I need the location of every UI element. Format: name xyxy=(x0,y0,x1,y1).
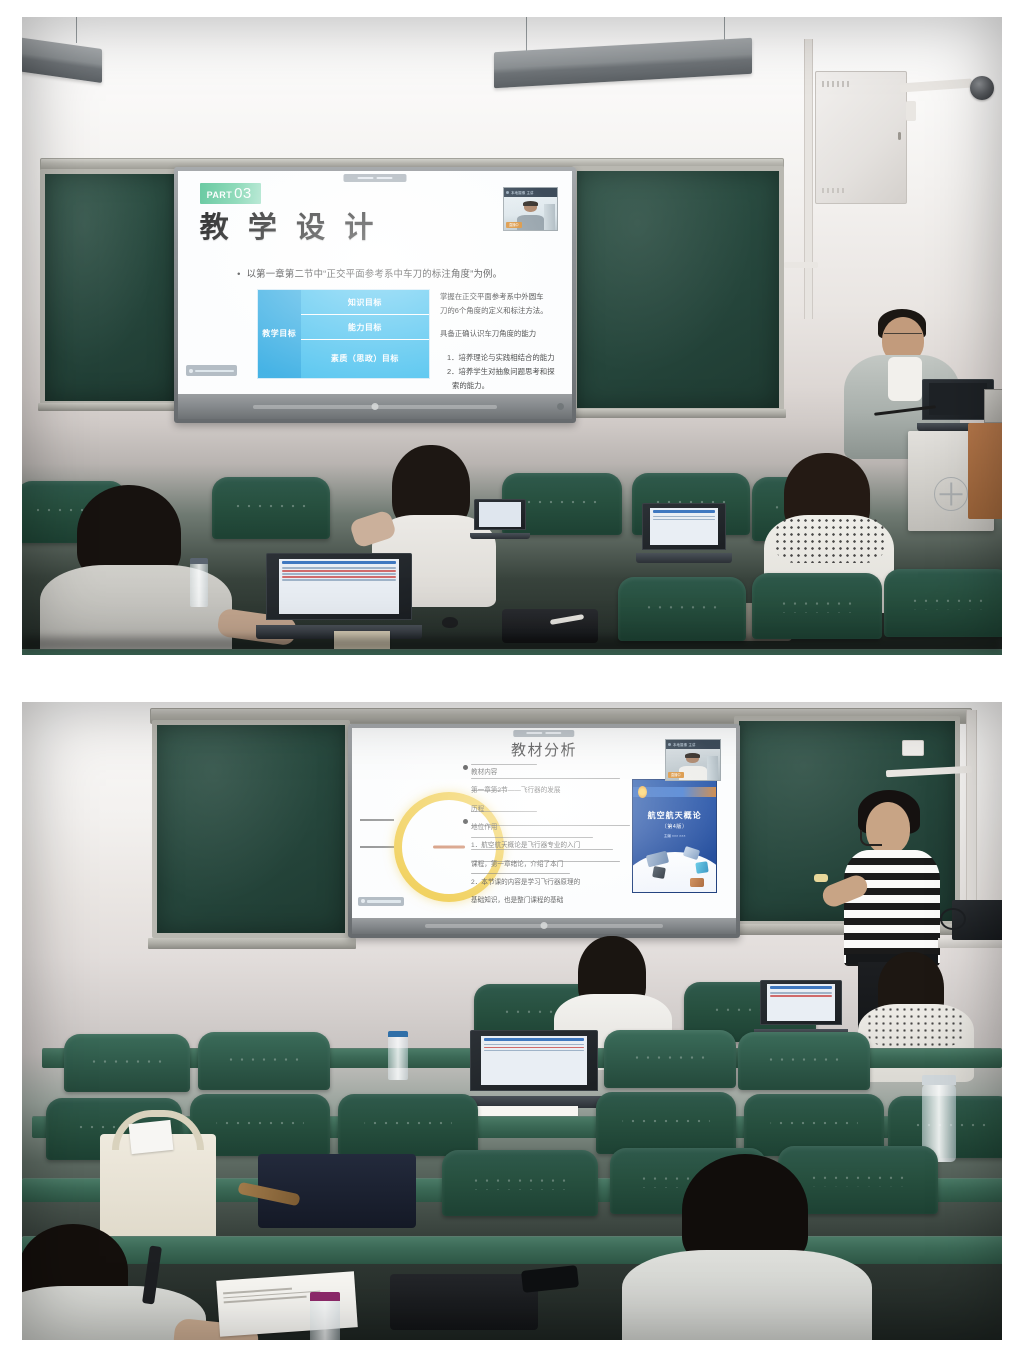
textbook-title: 航空航天概论 xyxy=(633,810,715,821)
pip-status-text: 本地摄像 主讲 xyxy=(673,742,696,747)
tote-bag xyxy=(100,1134,216,1252)
seat xyxy=(596,1092,736,1154)
pip-status-bar: 本地摄像 主讲 xyxy=(504,188,557,197)
camera-mount-stub xyxy=(906,101,916,121)
water-bottle xyxy=(388,1036,408,1080)
laptop-screen xyxy=(650,508,719,546)
slide-title: 教材分析 xyxy=(511,739,577,760)
seat-perforations xyxy=(771,1115,858,1131)
toolbar-item xyxy=(377,177,393,179)
desk-row-5 xyxy=(22,1236,1002,1264)
seat-perforations xyxy=(808,1169,907,1187)
toolbar-item xyxy=(527,732,543,734)
bullet-marker: • xyxy=(237,268,240,279)
slide-body-line: 1．航空航天概论是飞行器专业的入门 xyxy=(471,837,636,855)
watermark-dot-icon xyxy=(361,899,365,903)
bullet-text: 以第一章第二节中“正交平面参考系中车刀的标注角度”为例。 xyxy=(247,268,503,279)
screen-text-line xyxy=(770,992,831,993)
slide-body-line: 基础知识，也是整门课程的基础 xyxy=(471,892,636,910)
screen-control-bar[interactable] xyxy=(352,918,736,934)
seat-perforations xyxy=(629,1050,711,1065)
screen-titlebar xyxy=(484,1038,584,1041)
presentation-toolbar[interactable] xyxy=(513,730,574,737)
board-side-bracket xyxy=(784,262,818,268)
podium-desktop xyxy=(968,423,1002,519)
bottle-cap xyxy=(922,1075,956,1085)
screen-titlebar xyxy=(653,510,716,513)
watermark-text-bar xyxy=(195,370,234,373)
goal-desc-line: 1．培养理论与实践相结合的能力 xyxy=(440,353,555,362)
screen-text-line xyxy=(653,516,716,517)
cover-satellite-icon xyxy=(695,861,709,874)
cabinet-vent xyxy=(822,81,852,87)
bottle-cap xyxy=(190,558,208,564)
laptop-lid xyxy=(470,1030,598,1091)
projector-screen-surface[interactable]: PART 03 教 学 设 计 •以第一章第二节中“正交平面参考系中车刀的标注角… xyxy=(178,171,572,419)
slide-body-line: 历程 xyxy=(471,801,636,819)
laptop-screen xyxy=(767,984,834,1020)
goal-desc-line: 具备正确认识车刀角度的能力 xyxy=(440,329,536,338)
presenter2-torso xyxy=(844,850,940,966)
chalkboard-left xyxy=(40,169,180,406)
slide-teaching-design: PART 03 教 学 设 计 •以第一章第二节中“正交平面参考系中车刀的标注角… xyxy=(178,171,572,394)
pip-live-tag: 直播中 xyxy=(668,772,684,778)
screen-power-button[interactable] xyxy=(541,922,548,929)
seat xyxy=(338,1094,478,1156)
seat-perforations xyxy=(234,498,307,514)
slide-watermark xyxy=(186,365,237,376)
screen-text-line xyxy=(282,567,397,568)
side-equipment-cable xyxy=(940,908,966,930)
seat-perforations xyxy=(908,592,987,610)
projector-screen-frame: PART 03 教 学 设 计 •以第一章第二节中“正交平面参考系中车刀的标注角… xyxy=(174,167,576,423)
screen-text-line xyxy=(484,1047,584,1048)
presenter2-head xyxy=(866,802,910,854)
seat xyxy=(752,573,882,639)
slide-body-line: 第一章第2节——飞行器的发展 xyxy=(471,782,636,800)
laptop-base xyxy=(636,553,732,563)
lamp-wire xyxy=(526,17,527,55)
textbook-cover-image: 航空航天概论 （第4版） 主编 ××× ××× xyxy=(632,779,716,893)
presenter-glasses-icon xyxy=(884,333,922,339)
table-row: 能力目标 xyxy=(301,315,430,340)
laptop-sleeve xyxy=(390,1274,538,1330)
ring-lead-line xyxy=(360,819,395,821)
seat xyxy=(884,569,1002,637)
screen-text-line xyxy=(653,519,716,520)
laptop-screen xyxy=(479,502,521,527)
lamp-wire xyxy=(76,17,77,43)
pip-record-dot-icon xyxy=(668,743,671,746)
ring-lead-line xyxy=(360,846,395,848)
slide-bullet-item: 地位作用 xyxy=(471,819,636,837)
slide-bullet-item: 教材内容 xyxy=(471,764,636,782)
screen-titlebar xyxy=(770,986,831,989)
goal-desc-line: 刀的6个角度的定义和标注方法。 xyxy=(440,306,548,315)
screen-text-line xyxy=(282,579,397,580)
pip-status-bar: 本地摄像 主讲 xyxy=(666,740,720,749)
bottle-cap xyxy=(310,1292,340,1301)
textbook-edition: （第4版） xyxy=(633,823,715,830)
teaching-goals-table: 教学目标 知识目标 能力目标 素质（思政）目标 xyxy=(257,289,430,378)
laptop-lid xyxy=(760,980,842,1025)
seat-perforations xyxy=(472,1172,569,1189)
screen-power-button[interactable] xyxy=(372,403,379,410)
slide-body-line: 2．本节课的内容是学习飞行器原理的 xyxy=(471,874,636,892)
seat-perforations xyxy=(525,494,599,510)
screen-indicator-icon xyxy=(557,403,564,410)
pip-person-hair xyxy=(523,201,538,206)
cover-rover-icon xyxy=(690,878,704,887)
webcam-pip[interactable]: 本地摄像 主讲 直播中 xyxy=(665,739,721,781)
watermark-text-bar xyxy=(367,900,401,903)
watermark-dot-icon xyxy=(189,369,193,373)
projector-screen-frame: 教材分析 xyxy=(348,724,740,938)
table-row: 素质（思政）目标 xyxy=(301,340,430,377)
desk-shadow xyxy=(22,637,1002,651)
pip-background-door xyxy=(544,204,555,230)
seat xyxy=(618,577,746,641)
chalk-tray-right xyxy=(570,409,786,418)
table-row-header: 教学目标 xyxy=(258,290,301,377)
seat xyxy=(604,1030,736,1088)
water-bottle xyxy=(310,1300,340,1340)
presenter-inner-shirt xyxy=(888,357,922,401)
water-bottle xyxy=(190,563,208,607)
chalkboard-right xyxy=(572,166,784,413)
laptop-lid xyxy=(266,553,412,620)
goal-desc-line: 2．培养学生对抽象问题思考和探 xyxy=(440,367,555,376)
presentation-toolbar[interactable] xyxy=(343,174,406,182)
seat-perforations xyxy=(223,1052,305,1067)
seat xyxy=(64,1034,190,1092)
table-cells: 知识目标 能力目标 素质（思政）目标 xyxy=(301,290,430,377)
webcam-pip[interactable]: 本地摄像 主讲 直播中 xyxy=(503,187,558,232)
ring-inner-bar xyxy=(433,846,465,849)
computer-mouse[interactable] xyxy=(442,617,458,628)
seat-perforations xyxy=(217,1115,304,1131)
attendee2-right-collar xyxy=(866,1006,966,1046)
seat-perforations xyxy=(763,1052,845,1067)
part-badge: PART 03 xyxy=(200,183,261,204)
laptop-screen xyxy=(279,559,400,614)
toolbar-item xyxy=(357,177,373,179)
screen-text-line xyxy=(282,573,397,574)
goal-desc-ability: 具备正确认识车刀角度的能力 xyxy=(440,327,562,341)
screen-text-line xyxy=(282,570,397,571)
teaching-goals-descriptions: 掌握在正交平面参考系中外圆车 刀的6个角度的定义和标注方法。 具备正确认识车刀角… xyxy=(440,290,562,394)
ceiling-dome-camera xyxy=(970,76,994,100)
attendee-right-collar xyxy=(774,517,886,563)
presenter2-headset-mic-icon xyxy=(860,830,882,846)
pip-person-hair xyxy=(685,753,700,758)
audience2-laptop-center[interactable] xyxy=(470,1030,598,1108)
pip-background-door xyxy=(707,756,718,780)
presenter2-chalk-icon xyxy=(814,874,828,882)
slide-bullet-line: •以第一章第二节中“正交平面参考系中车刀的标注角度”为例。 xyxy=(237,266,502,280)
seat xyxy=(212,477,330,539)
laptop-lid xyxy=(642,503,726,550)
wall-electrical-cabinet xyxy=(815,71,907,204)
photo-bottom: 教材分析 xyxy=(22,702,1002,1340)
goal-desc-line: 掌握在正交平面参考系中外圆车 xyxy=(440,292,543,301)
seat-perforations xyxy=(777,595,858,612)
laptop-screen xyxy=(481,1036,587,1085)
slide-body-line: 课程，第一章绪论，介绍了本门 xyxy=(471,856,636,874)
slide-watermark xyxy=(358,897,404,906)
seat xyxy=(738,1032,870,1090)
bullet-marker xyxy=(463,765,468,770)
pip-record-dot-icon xyxy=(506,191,509,194)
podium-monitor xyxy=(984,389,1002,423)
screen-control-bar[interactable] xyxy=(178,394,572,419)
seat-perforations xyxy=(623,1113,710,1129)
tote-contents xyxy=(129,1120,174,1154)
seat-perforations xyxy=(88,1054,166,1069)
seat-perforations xyxy=(642,599,721,616)
screen-text-line xyxy=(282,576,397,577)
seat xyxy=(442,1150,598,1216)
projector-screen-surface[interactable]: 教材分析 xyxy=(352,728,736,934)
audience-laptop-left[interactable] xyxy=(266,553,412,639)
screen-text-line xyxy=(770,995,831,996)
cabinet-latch xyxy=(898,132,901,140)
part-badge-number: 03 xyxy=(234,186,252,201)
wall-socket xyxy=(902,740,924,756)
audience-laptop-center[interactable] xyxy=(642,503,726,563)
university-emblem xyxy=(934,477,968,511)
laptop-screen xyxy=(929,383,988,415)
screen-titlebar xyxy=(282,561,397,564)
goal-desc-line: 索的能力。 xyxy=(440,381,489,390)
chalkboard-left xyxy=(152,720,350,938)
pip-live-tag: 直播中 xyxy=(506,222,522,228)
slide-textbook-analysis: 教材分析 xyxy=(352,728,736,918)
audience2-laptop-right[interactable] xyxy=(760,980,842,1038)
table-row: 知识目标 xyxy=(301,290,430,315)
cabinet-label xyxy=(822,188,844,193)
slide-body-text: 教材内容 第一章第2节——飞行器的发展 历程 地位作用 1．航空航天概论是飞行器… xyxy=(471,764,636,911)
pip-status-text: 本地摄像 主讲 xyxy=(511,190,534,195)
part-badge-label: PART xyxy=(207,190,232,200)
page-root: PART 03 教 学 设 计 •以第一章第二节中“正交平面参考系中车刀的标注角… xyxy=(0,0,1024,1365)
chalk-tray-left xyxy=(38,403,184,411)
goal-desc-knowledge: 掌握在正交平面参考系中外圆车 刀的6个角度的定义和标注方法。 xyxy=(440,290,562,317)
bottle-cap xyxy=(388,1031,408,1037)
attendee2-front-right-torso xyxy=(622,1250,872,1340)
screen-text-line xyxy=(484,1044,584,1045)
textbook-authors: 主编 ××× ××× xyxy=(633,833,715,839)
seat-perforations xyxy=(365,1115,452,1131)
slide-title: 教 学 设 计 xyxy=(200,204,380,246)
audience-laptop-right[interactable] xyxy=(474,499,526,539)
chalk-tray-left xyxy=(148,938,356,949)
laptop-lid xyxy=(474,499,526,530)
laptop-base xyxy=(470,533,529,539)
wall-conduit xyxy=(804,39,813,319)
screen-text-line xyxy=(484,1050,584,1051)
wall-conduit xyxy=(966,710,977,920)
goal-desc-quality: 1．培养理论与实践相结合的能力 2．培养学生对抽象问题思考和探 索的能力。 xyxy=(440,351,562,392)
toolbar-item xyxy=(546,732,562,734)
seat xyxy=(198,1032,330,1090)
photo-top: PART 03 教 学 设 计 •以第一章第二节中“正交平面参考系中车刀的标注角… xyxy=(22,17,1002,655)
